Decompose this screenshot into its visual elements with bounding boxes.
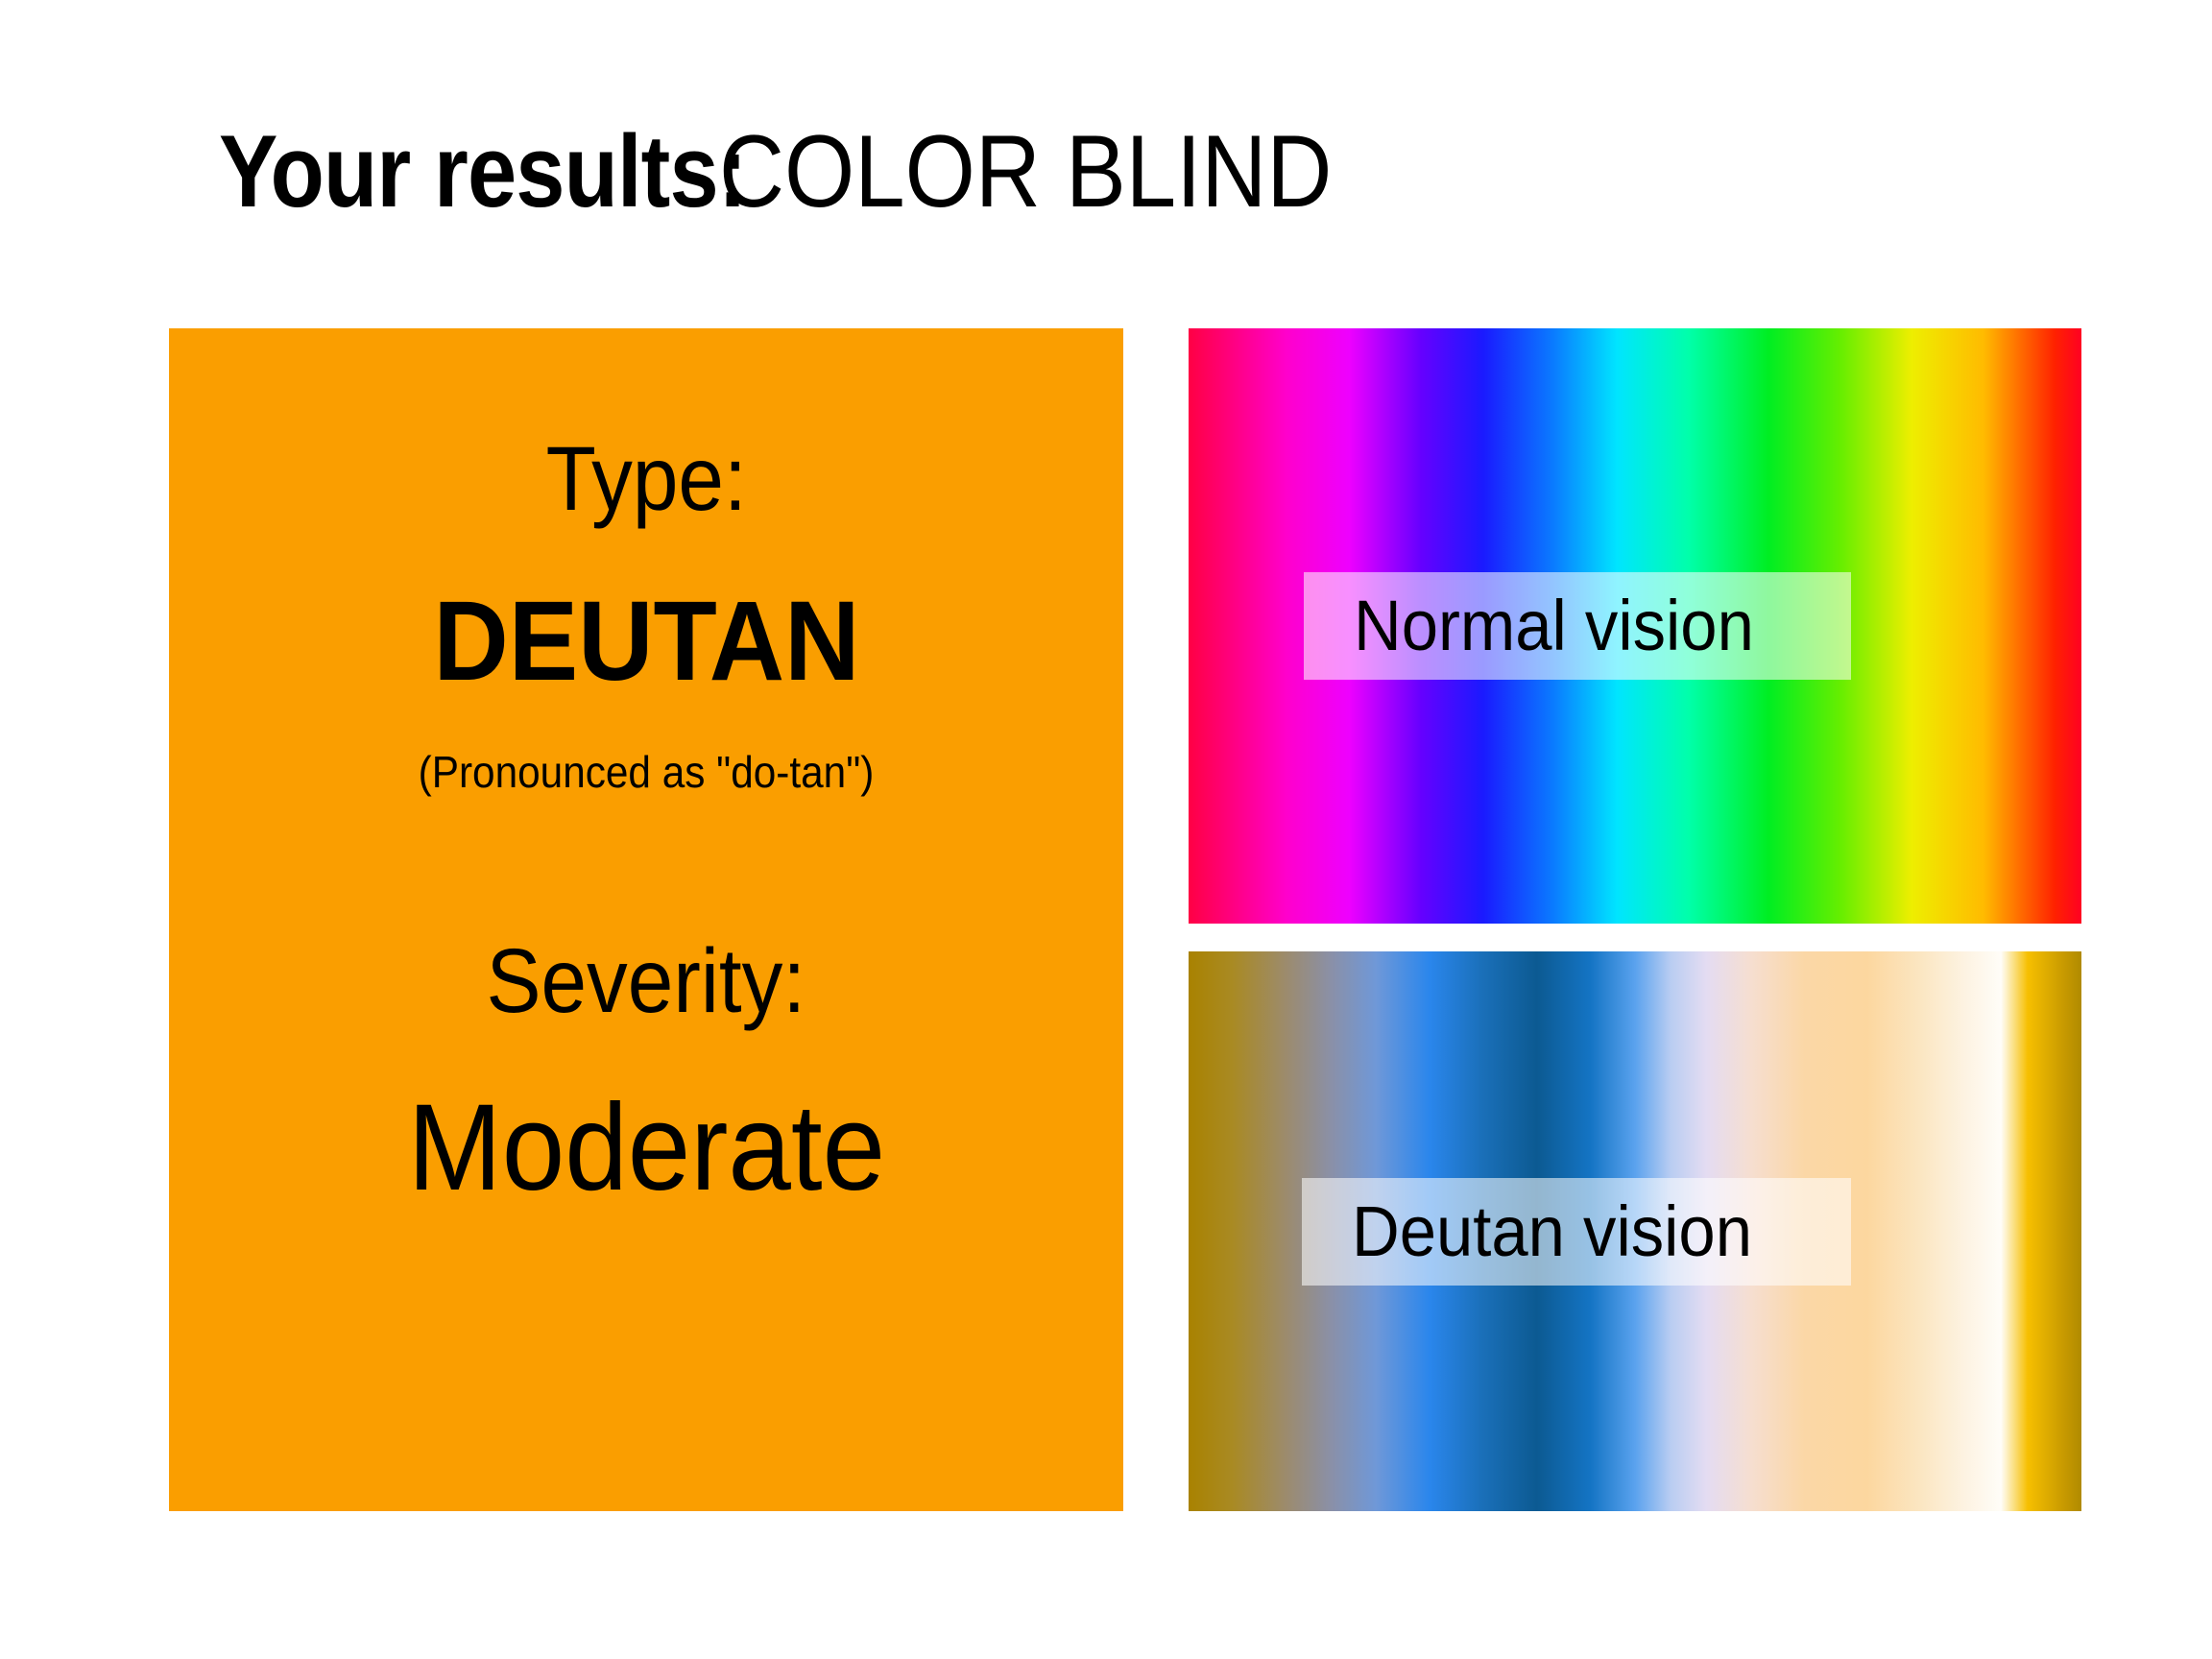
severity-value: Moderate (407, 1087, 884, 1210)
deutan-vision-label: Deutan vision (1352, 1196, 1752, 1267)
deutan-vision-gradient: Deutan vision (1189, 951, 2081, 1511)
page-header: Your results: COLOR BLIND (0, 113, 2212, 228)
normal-vision-label-band: Normal vision (1304, 572, 1851, 680)
results-page: Your results: COLOR BLIND Type: DEUTAN (… (0, 0, 2212, 1659)
results-summary-panel: Type: DEUTAN (Pronounced as "do-tan") Se… (169, 328, 1123, 1511)
type-label: Type: (545, 434, 746, 525)
type-value: DEUTAN (433, 585, 859, 698)
type-pronunciation: (Pronounced as "do-tan") (419, 750, 875, 794)
page-title-condition: COLOR BLIND (719, 120, 1332, 223)
normal-vision-label: Normal vision (1354, 590, 1754, 661)
normal-vision-gradient: Normal vision (1189, 328, 2081, 924)
severity-label: Severity: (487, 936, 806, 1027)
page-title-results: Your results: (219, 120, 747, 223)
deutan-vision-label-band: Deutan vision (1302, 1178, 1851, 1286)
